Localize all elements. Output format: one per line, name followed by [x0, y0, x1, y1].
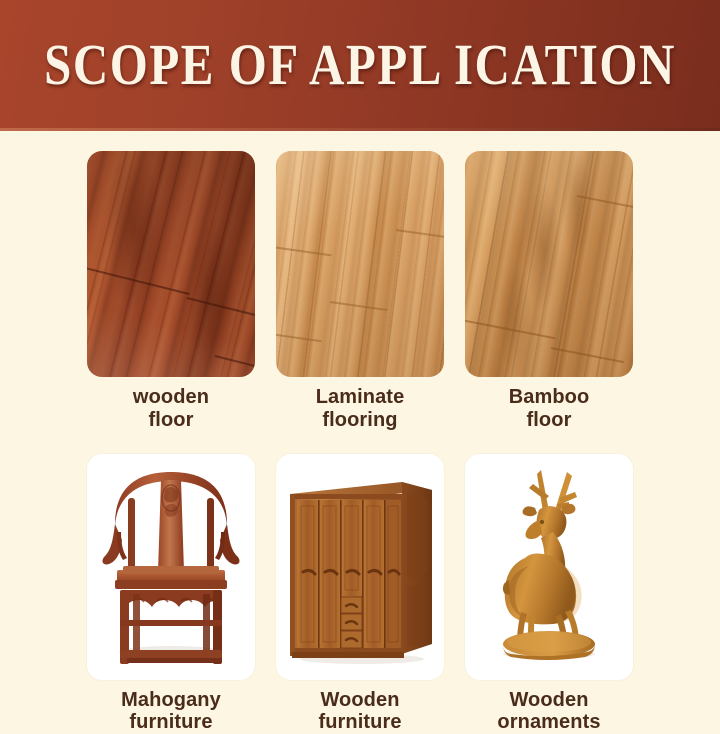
grid-cell-wooden-floor[interactable]: wooden floor — [84, 151, 258, 432]
wooden-wardrobe-icon — [276, 454, 444, 680]
page-title: SCOPE OF APPL ICATION — [44, 35, 676, 93]
mahogany-furniture-thumbnail[interactable] — [87, 454, 255, 680]
laminate-flooring-swatch-icon — [276, 151, 444, 377]
grid-cell-laminate-flooring[interactable]: Laminate flooring — [273, 151, 447, 432]
wooden-deer-ornament-icon — [465, 454, 633, 680]
grid-cell-mahogany-furniture[interactable]: Mahogany furniture — [84, 454, 258, 734]
caption-laminate-flooring: Laminate flooring — [316, 386, 405, 432]
bamboo-floor-swatch-icon — [465, 151, 633, 377]
poster-header: SCOPE OF APPL ICATION — [0, 0, 720, 128]
wooden-floor-swatch-icon — [87, 151, 255, 377]
caption-mahogany-furniture: Mahogany furniture — [121, 689, 221, 734]
caption-wooden-furniture: Wooden furniture — [318, 689, 401, 734]
grid-row-products: Mahogany furniture — [84, 454, 636, 734]
grid-cell-bamboo-floor[interactable]: Bamboo floor — [462, 151, 636, 432]
wooden-ornaments-thumbnail[interactable] — [465, 454, 633, 680]
grid-row-flooring: wooden floor Laminate flooring — [84, 151, 636, 432]
caption-wooden-floor: wooden floor — [133, 386, 209, 432]
wooden-furniture-thumbnail[interactable] — [276, 454, 444, 680]
wooden-floor-thumbnail[interactable] — [87, 151, 255, 377]
mahogany-armchair-icon — [87, 454, 255, 680]
application-grid: wooden floor Laminate flooring — [0, 131, 720, 734]
grid-cell-wooden-furniture[interactable]: Wooden furniture — [273, 454, 447, 734]
caption-bamboo-floor: Bamboo floor — [509, 386, 590, 432]
bamboo-floor-thumbnail[interactable] — [465, 151, 633, 377]
scope-of-application-poster: SCOPE OF APPL ICATION wooden floor — [0, 0, 720, 734]
grid-cell-wooden-ornaments[interactable]: Wooden ornaments — [462, 454, 636, 734]
caption-wooden-ornaments: Wooden ornaments — [497, 689, 600, 734]
laminate-flooring-thumbnail[interactable] — [276, 151, 444, 377]
